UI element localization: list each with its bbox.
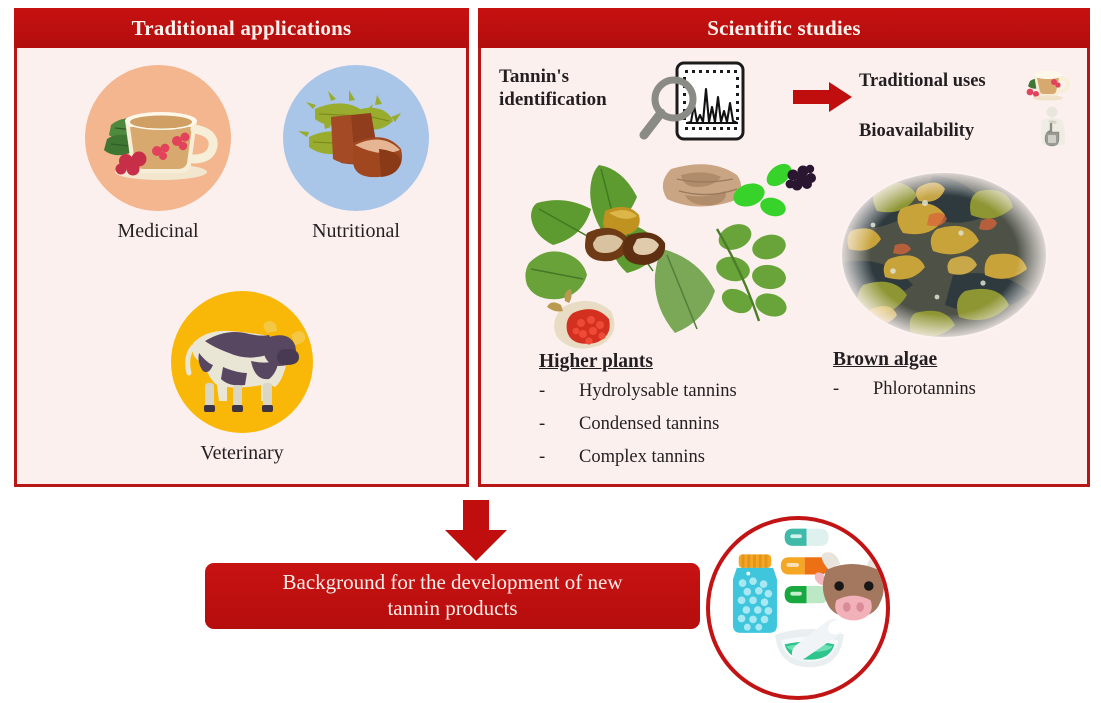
- magnifier-chromatogram-icon: [629, 59, 749, 145]
- chestnut-icon: [283, 65, 429, 211]
- cow-icon: [171, 291, 313, 433]
- conclusion-banner: Background for the development of new ta…: [205, 563, 700, 629]
- application-item-veterinary: Veterinary: [137, 291, 347, 465]
- tannin-identification-label: Tannin's identification: [499, 65, 634, 111]
- application-label-nutritional: Nutritional: [261, 220, 451, 243]
- traditional-applications-body: Medicinal: [17, 51, 466, 484]
- banner-line2: tannin products: [387, 596, 517, 620]
- application-label-veterinary: Veterinary: [137, 442, 347, 465]
- list-item: Condensed tannins: [535, 414, 737, 435]
- tannin-list-brown-algae: Phlorotannins: [829, 379, 976, 412]
- group-title-higher-plants: Higher plants: [539, 351, 653, 373]
- tannin-products-icon: [706, 516, 890, 700]
- application-label-medicinal: Medicinal: [63, 220, 253, 243]
- tannin-list-higher-plants: Hydrolysable tannins Condensed tannins C…: [535, 381, 737, 480]
- outcome-traditional-uses: Traditional uses: [859, 71, 986, 92]
- traditional-applications-panel: Traditional applications: [14, 8, 469, 487]
- list-item: Hydrolysable tannins: [535, 381, 737, 402]
- panel-title-scientific: Scientific studies: [478, 8, 1090, 48]
- scientific-studies-body: Tannin's identification: [481, 51, 1087, 484]
- plant-collage-image: [521, 151, 821, 361]
- tannin-identification-line2: identification: [499, 88, 634, 111]
- list-item: Phlorotannins: [829, 379, 976, 400]
- teacup-icon: [1024, 59, 1070, 105]
- application-item-nutritional: Nutritional: [261, 65, 451, 243]
- outcome-bioavailability: Bioavailability: [859, 121, 974, 142]
- application-item-medicinal: Medicinal: [63, 65, 253, 243]
- group-title-brown-algae: Brown algae: [833, 349, 937, 371]
- tannin-identification-line1: Tannin's: [499, 65, 634, 88]
- human-digestion-icon: [1029, 105, 1075, 151]
- right-arrow-icon: [793, 81, 853, 113]
- banner-line1: Background for the development of new: [283, 570, 623, 594]
- list-item: Complex tannins: [535, 447, 737, 468]
- panel-title-traditional: Traditional applications: [14, 8, 469, 48]
- down-arrow-icon: [437, 500, 515, 562]
- teacup-berries-icon: [85, 65, 231, 211]
- scientific-studies-panel: Scientific studies Tannin's identificati…: [478, 8, 1090, 487]
- brown-algae-image: [833, 163, 1055, 348]
